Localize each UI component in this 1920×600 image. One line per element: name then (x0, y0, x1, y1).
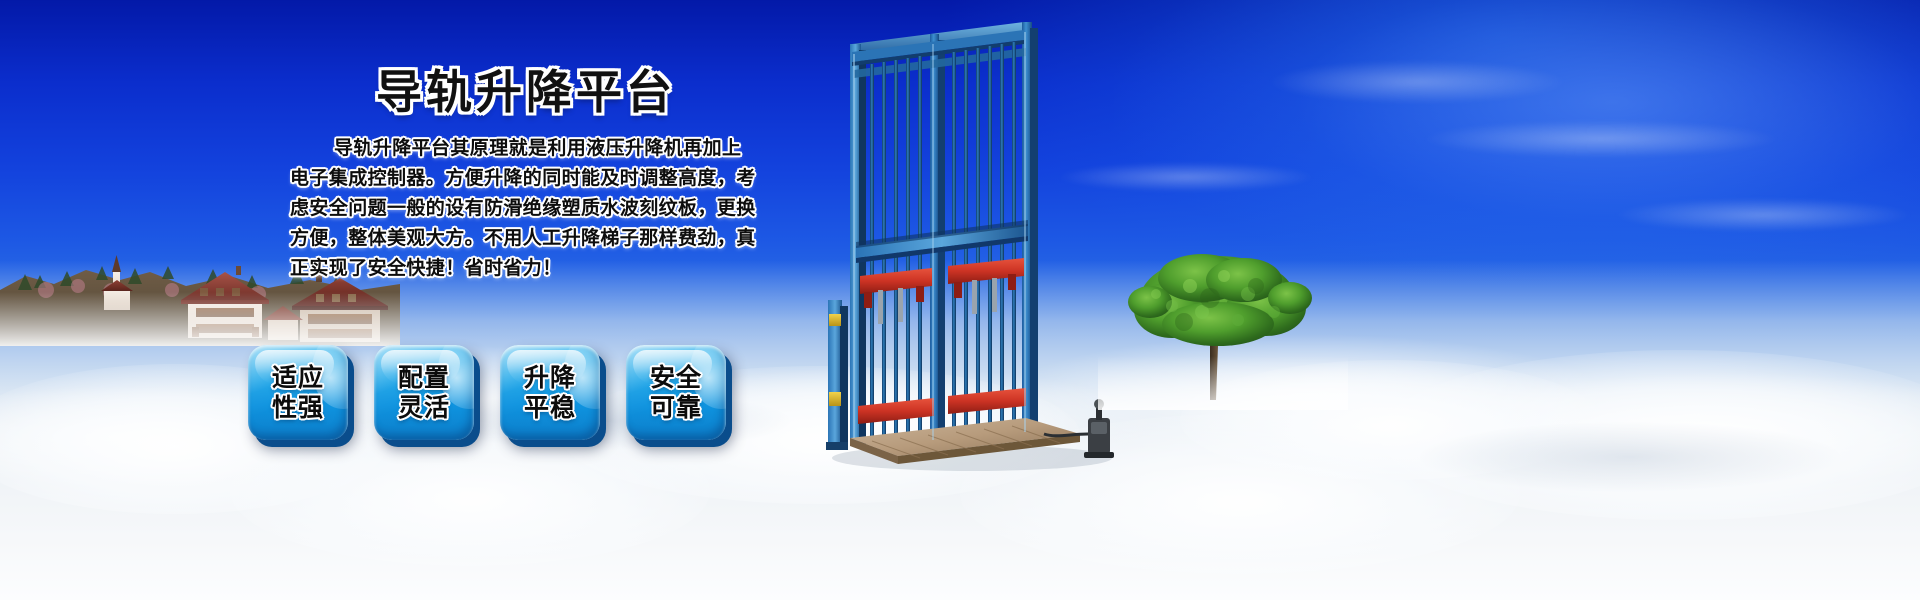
feature-badge-group: 适应 性强 配置 灵活 升降 平稳 安全 可靠 (248, 345, 726, 440)
feature-badge-line1: 适应 (272, 363, 324, 393)
feature-badge-line1: 配置 (398, 363, 450, 393)
green-tree-scenery (1098, 250, 1348, 410)
feature-badge-line1: 升降 (524, 363, 576, 393)
feature-badge-configuration[interactable]: 配置 灵活 (374, 345, 474, 440)
feature-badge-safety[interactable]: 安全 可靠 (626, 345, 726, 440)
feature-badge-adaptability[interactable]: 适应 性强 (248, 345, 348, 440)
feature-badge-line2: 可靠 (650, 393, 702, 423)
feature-badge-label: 配置 灵活 (398, 363, 450, 423)
product-banner: 导轨升降平台 导轨升降平台其原理就是利用液压升降机再加上电子集成控制器。方便升降… (0, 0, 1920, 600)
feature-badge-label: 升降 平稳 (524, 363, 576, 423)
page-title: 导轨升降平台 (376, 56, 676, 122)
feature-badge-line2: 平稳 (524, 393, 576, 423)
feature-badge-line2: 性强 (272, 393, 324, 423)
feature-badge-smooth-lift[interactable]: 升降 平稳 (500, 345, 600, 440)
feature-badge-line2: 灵活 (398, 393, 450, 423)
description-paragraph: 导轨升降平台其原理就是利用液压升降机再加上电子集成控制器。方便升降的同时能及时调… (290, 134, 760, 284)
feature-badge-label: 安全 可靠 (650, 363, 702, 423)
feature-badge-label: 适应 性强 (272, 363, 324, 423)
feature-badge-line1: 安全 (650, 363, 702, 393)
